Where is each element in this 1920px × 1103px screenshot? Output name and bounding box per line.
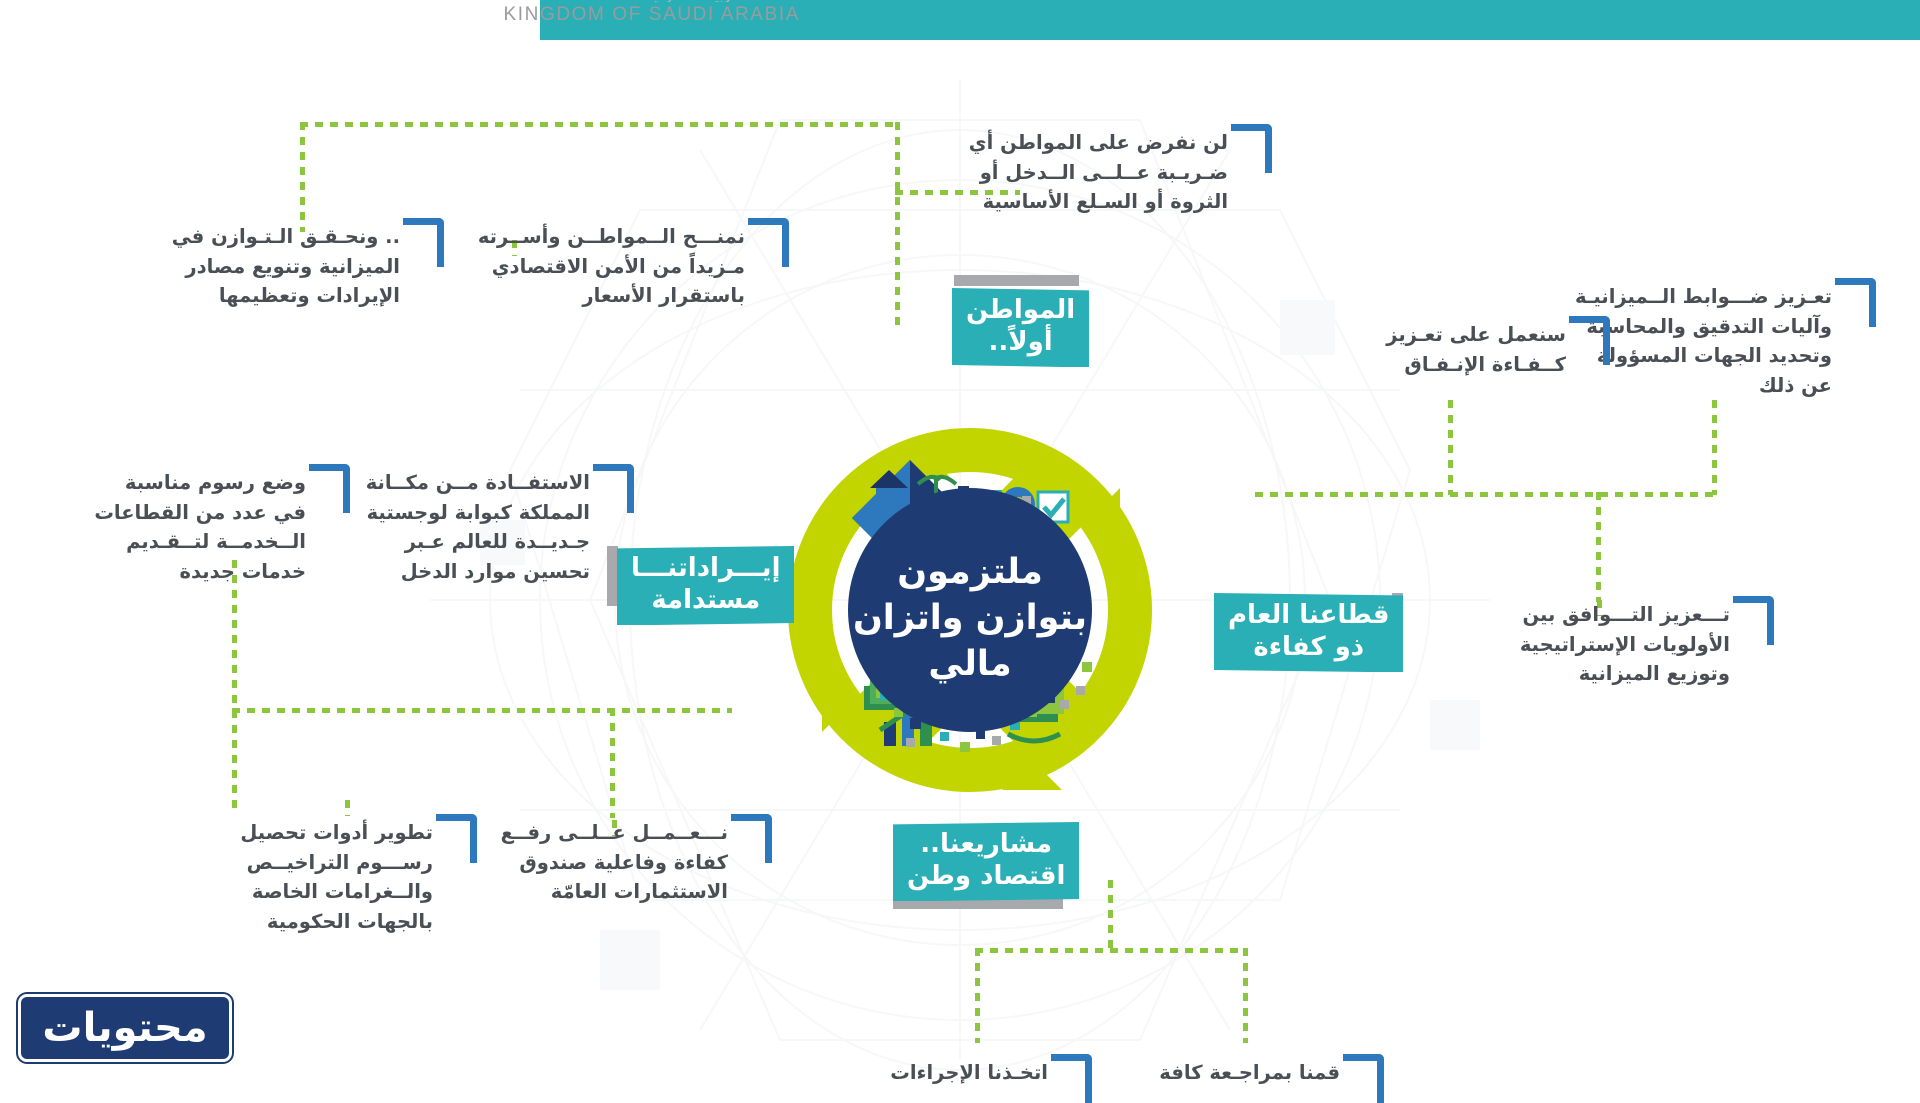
connector-right-upper-horizontal xyxy=(1255,492,1715,497)
bracket-icon xyxy=(436,814,477,863)
center-line-2: بتوازن واتزان xyxy=(853,598,1087,638)
callout-line: تعـزيز ضـــوابط الــميزانيـة xyxy=(1582,282,1832,312)
callout-line: وتحديد الجهات المسؤولة xyxy=(1582,341,1832,371)
callout-line: الميزانية وتنويع مصادر xyxy=(182,252,400,282)
callout-line: نمنـــح الــمواطــن وأســرته xyxy=(500,222,745,252)
callout-line: المملكة كبوابة لوجستية xyxy=(378,498,590,528)
badge-citizen-first-line2: أولاً.. xyxy=(966,327,1075,359)
callout-line: الــخدمــة لتــقـديم xyxy=(138,527,306,557)
callout-line: وضع رسوم مناسبة xyxy=(138,468,306,498)
callout-line: عن ذلك xyxy=(1582,371,1832,401)
bracket-icon xyxy=(309,464,350,513)
callout-reviewed-all: قمنا بمراجـعة كافة xyxy=(1180,1058,1340,1088)
watermark-text: محتويات xyxy=(42,1005,207,1051)
callout-line: الإيرادات وتعظيمها xyxy=(182,281,400,311)
callout-line: .. ونحـقـق الـتـوازن في xyxy=(182,222,400,252)
bracket-icon xyxy=(748,218,789,267)
callout-budget-balance-revenue-diversification: .. ونحـقـق الـتـوازن في الميزانية وتنويع… xyxy=(182,222,400,311)
center-line-1: ملتزمون xyxy=(897,552,1043,592)
callout-line: كــفـاءة الإنـفـاق xyxy=(1388,350,1566,380)
callout-appropriate-fees-new-services: وضع رسوم مناسبة في عدد من القطاعات الــخ… xyxy=(138,468,306,587)
callout-logistics-gateway-income-sources: الاستفــادة مــن مكــانة المملكة كبوابة … xyxy=(378,468,590,587)
callout-line: اتخـذنا الإجراءات xyxy=(900,1058,1048,1088)
callout-line: في عدد من القطاعات xyxy=(138,498,306,528)
connector-left-mid-horizontal xyxy=(232,708,732,713)
badge-bar-top xyxy=(954,275,1079,286)
badge-efficient-public-sector-line1: قطاعنا العام xyxy=(1228,600,1389,632)
callout-line: كفاءة وفاعلية صندوق xyxy=(538,848,728,878)
badge-citizen-first-line1: المواطن xyxy=(966,295,1075,327)
bracket-icon xyxy=(1733,596,1774,645)
callout-line: خدمات جديدة xyxy=(138,557,306,587)
connector-right-upper-vertical-a xyxy=(1448,400,1453,495)
connector-right-lower-vertical xyxy=(1596,492,1601,602)
connector-left-lower-vertical xyxy=(610,708,615,818)
callout-line: رســـوم التراخيــص xyxy=(248,848,433,878)
header-arabic-name: المملكة العربية السعودية xyxy=(370,0,800,2)
badge-bar-left xyxy=(607,546,618,606)
callout-line: باستقرار الأسعار xyxy=(500,281,745,311)
callout-line: وآليات التدقيق والمحاسبة xyxy=(1582,312,1832,342)
badge-citizen-first[interactable]: المواطن أولاً.. xyxy=(952,288,1089,367)
bracket-icon xyxy=(1231,124,1272,173)
center-line-3: مالي xyxy=(928,644,1011,684)
bracket-icon xyxy=(1835,278,1876,327)
callout-line: وتوزيع الميزانية xyxy=(1520,659,1730,689)
callout-line: تـــعزيز التـــوافق بين xyxy=(1520,600,1730,630)
callout-line: الاستفــادة مــن مكــانة xyxy=(378,468,590,498)
connector-right-upper-vertical-b xyxy=(1712,400,1717,495)
bracket-icon xyxy=(593,464,634,513)
callout-line: مـزيداً من الأمن الاقتصادي xyxy=(500,252,745,282)
callout-strategic-priorities-budget-alignment: تـــعزيز التـــوافق بين الأولويات الإستر… xyxy=(1520,600,1730,689)
connector-bottom-vertical-right xyxy=(1243,948,1248,1043)
callout-line: لن نفرض على المواطن أي xyxy=(1000,128,1228,158)
connector-top-left-horizontal xyxy=(300,122,900,127)
callout-pif-efficiency: نـــعــمــل عــلــى رفــع كفاءة وفاعلية … xyxy=(538,818,728,907)
callout-line: قمنا بمراجـعة كافة xyxy=(1180,1058,1340,1088)
callout-line: ضـريـبة عــلــى الــدخل أو xyxy=(1000,158,1228,188)
connector-bottom-vertical-center xyxy=(1108,880,1113,950)
central-wheel-graphic: ملتزمون بتوازن واتزان مالي xyxy=(760,400,1180,820)
header-english-name: KINGDOM OF SAUDI ARABIA xyxy=(370,4,800,26)
callout-procedures-taken: اتخـذنا الإجراءات xyxy=(900,1058,1048,1088)
bracket-icon xyxy=(1569,316,1610,365)
badge-efficient-public-sector[interactable]: قطاعنا العام ذو كفاءة xyxy=(1214,593,1403,672)
connector-bottom-vertical-left xyxy=(975,948,980,1043)
badge-our-projects[interactable]: مشاريعنا.. اقتصاد وطن xyxy=(893,822,1079,901)
callout-line: تحسين موارد الدخل xyxy=(378,557,590,587)
callout-line: سنعمل على تعـزيز xyxy=(1388,320,1566,350)
callout-line: نـــعــمــل عــلــى رفــع xyxy=(538,818,728,848)
bracket-icon xyxy=(1051,1054,1092,1103)
bracket-icon xyxy=(1343,1054,1384,1103)
badge-sustainable-revenue-line1: إيـــراداتنـــا xyxy=(631,553,780,585)
badge-sustainable-revenue-line2: مستدامة xyxy=(631,585,780,617)
bracket-icon xyxy=(403,218,444,267)
connector-left-mid-vertical xyxy=(232,560,237,810)
callout-budget-controls-audit-accountability: تعـزيز ضـــوابط الــميزانيـة وآليات التد… xyxy=(1582,282,1832,401)
watermark-logo: محتويات xyxy=(18,994,232,1062)
connector-top-left-vertical-a xyxy=(300,122,305,232)
connector-tick-lower-left xyxy=(345,800,350,816)
callout-line: والــغرامات الخاصة xyxy=(248,877,433,907)
callout-economic-security-price-stability: نمنـــح الــمواطــن وأســرته مـزيداً من … xyxy=(500,222,745,311)
callout-line: تطوير أدوات تحصيل xyxy=(248,818,433,848)
badge-efficient-public-sector-line2: ذو كفاءة xyxy=(1228,632,1389,664)
bracket-icon xyxy=(731,814,772,863)
callout-line: الأولويات الإستراتيجية xyxy=(1520,630,1730,660)
callout-line: جـديــدة للعالم عـبر xyxy=(378,527,590,557)
callout-no-tax-on-citizen: لن نفرض على المواطن أي ضـريـبة عــلــى ا… xyxy=(1000,128,1228,217)
badge-our-projects-line1: مشاريعنا.. xyxy=(907,829,1065,861)
badge-sustainable-revenue[interactable]: إيـــراداتنـــا مستدامة xyxy=(617,546,794,625)
connector-top-left-vertical-b xyxy=(895,122,900,332)
header-bar: المملكة العربية السعودية KINGDOM OF SAUD… xyxy=(0,0,1920,40)
callout-license-fees-fines-collection: تطوير أدوات تحصيل رســـوم التراخيــص وال… xyxy=(248,818,433,937)
callout-line: بالجهات الحكومية xyxy=(248,907,433,937)
badge-our-projects-line2: اقتصاد وطن xyxy=(907,861,1065,893)
callout-spending-efficiency: سنعمل على تعـزيز كــفـاءة الإنـفـاق xyxy=(1388,320,1566,379)
callout-line: الثروة أو السـلع الأساسية xyxy=(1000,187,1228,217)
callout-line: الاستثمارات العامّة xyxy=(538,877,728,907)
